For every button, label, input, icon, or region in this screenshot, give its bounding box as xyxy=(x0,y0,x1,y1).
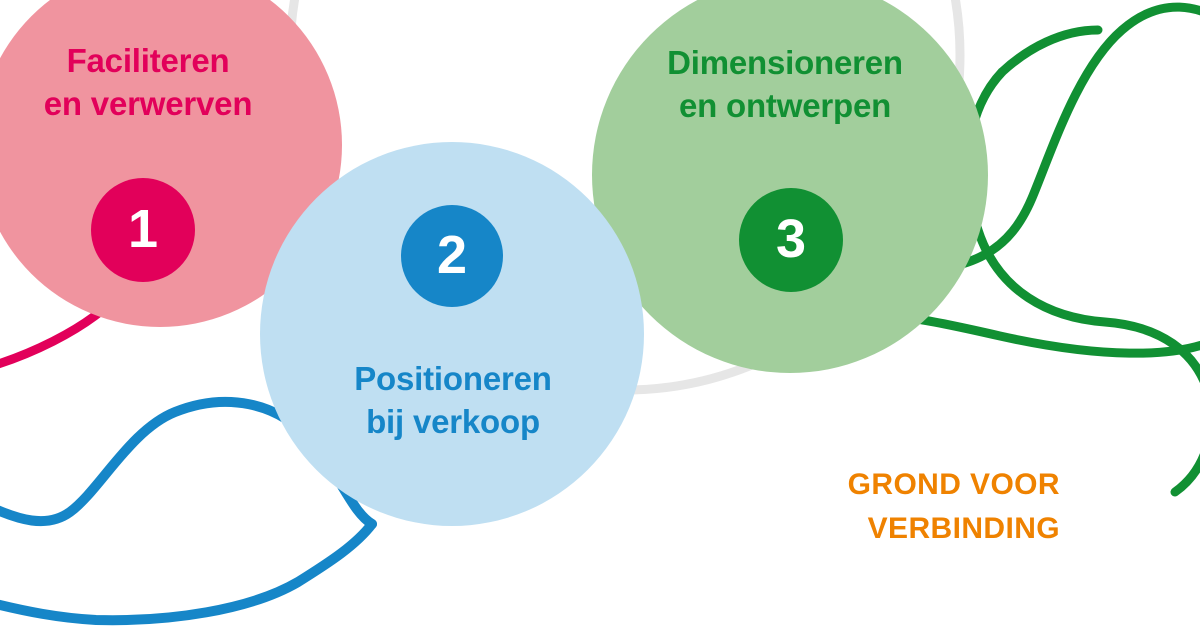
infographic-canvas: Faciliteren en verwerven 1 Positioneren … xyxy=(0,0,1200,627)
badge-circle-step-3 xyxy=(739,188,843,292)
green-loop-decoration-lower xyxy=(968,72,1200,492)
badge-circle-step-2 xyxy=(401,205,503,307)
badge-circle-step-1 xyxy=(91,178,195,282)
bubble-circle-step-2 xyxy=(260,142,644,526)
blue-wave-decoration-lower xyxy=(0,524,372,620)
green-loop-decoration-tail xyxy=(1002,30,1098,72)
decorative-artwork xyxy=(0,0,1200,627)
